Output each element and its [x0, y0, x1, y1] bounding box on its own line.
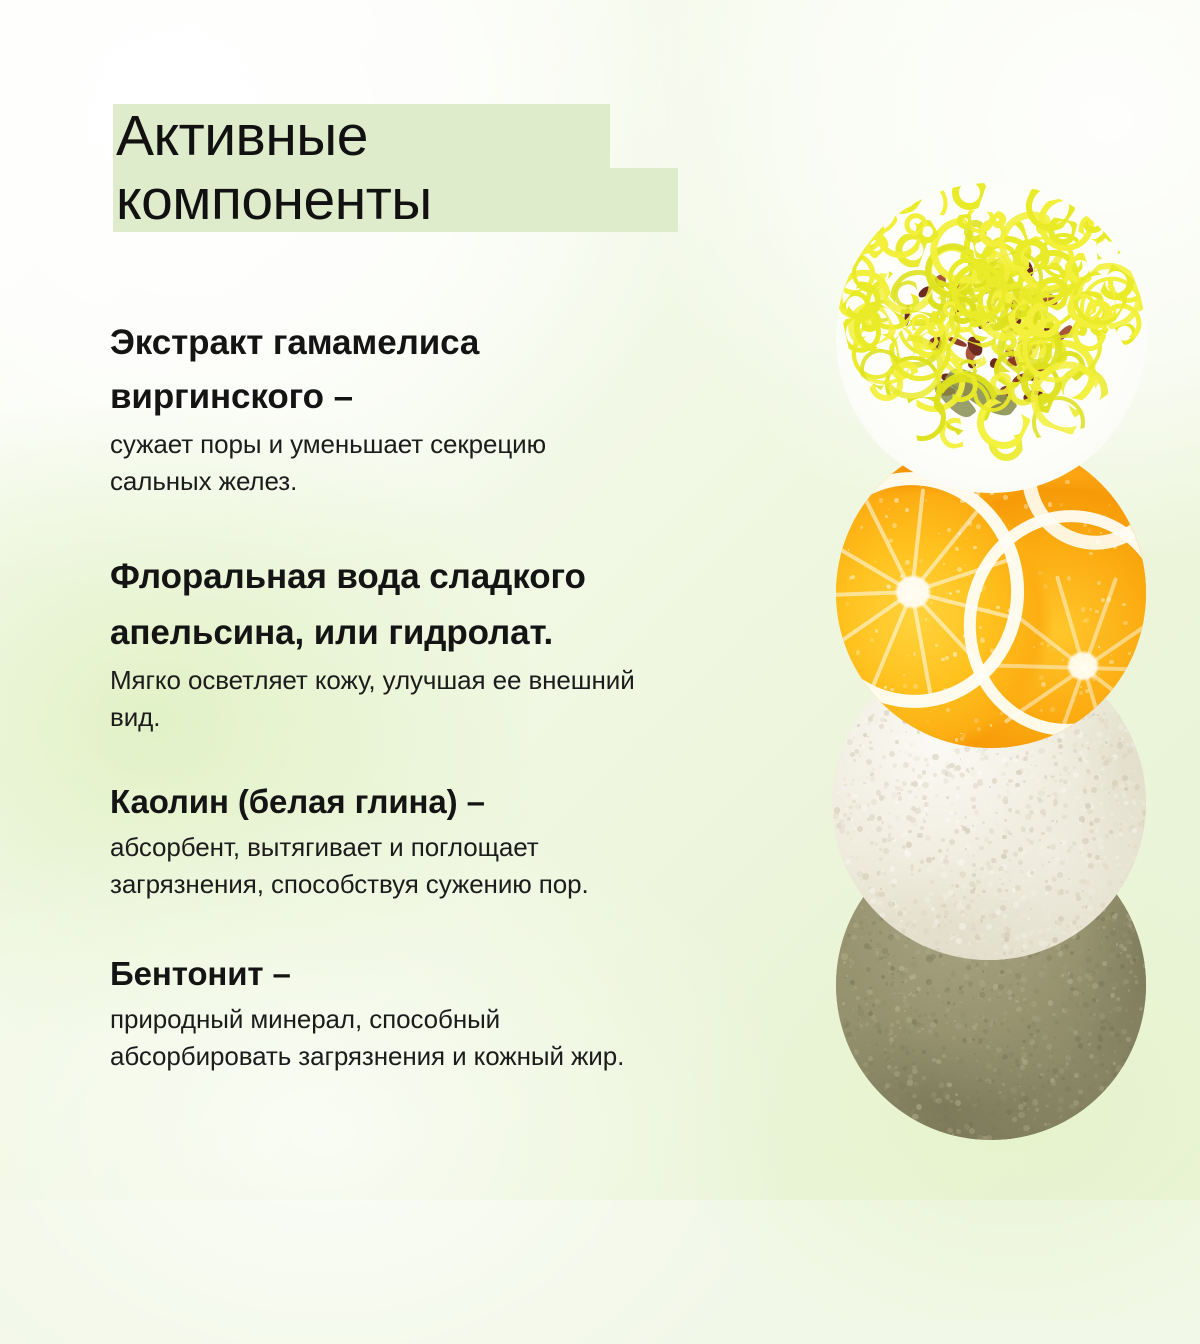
page-title-block: Активные компоненты [113, 104, 713, 232]
ingredient-name-2: Флоральная вода сладкого апельсина, или … [110, 549, 635, 661]
ingredient-desc-line: Мягко осветляет кожу, улучшая ее внешний [110, 662, 635, 699]
ingredient-description-4: природный минерал, способный абсорбирова… [110, 1001, 624, 1075]
ingredient-desc-line: сужает поры и уменьшает секрецию [110, 426, 546, 463]
ingredient-desc-line: абсорбент, вытягивает и поглощает [110, 829, 589, 866]
page-title-line-2: компоненты [116, 168, 713, 232]
ingredient-name-line: виргинского – [110, 370, 546, 424]
ingredient-desc-line: сальных желез. [110, 463, 546, 500]
page-title-line-1: Активные [116, 104, 713, 168]
ingredient-item-3: Каолин (белая глина) – абсорбент, вытяги… [110, 778, 589, 903]
ingredient-description-1: сужает поры и уменьшает секрецию сальных… [110, 426, 546, 500]
ingredient-photo-stack [810, 150, 1200, 1160]
ingredient-name-line: Бентонит – [110, 950, 624, 998]
ingredient-desc-line: вид. [110, 699, 635, 736]
ingredient-item-1: Экстракт гамамелиса виргинского – сужает… [110, 316, 546, 500]
content-column: Активные компоненты Экстракт гамамелиса … [0, 0, 780, 1200]
ingredient-desc-line: абсорбировать загрязнения и кожный жир. [110, 1038, 624, 1075]
ingredient-name-4: Бентонит – [110, 950, 624, 998]
ingredient-name-line: Экстракт гамамелиса [110, 316, 546, 370]
ingredient-description-3: абсорбент, вытягивает и поглощает загряз… [110, 829, 589, 903]
ingredient-name-1: Экстракт гамамелиса виргинского – [110, 316, 546, 424]
ingredient-name-line: Каолин (белая глина) – [110, 778, 589, 826]
ingredient-desc-line: загрязнения, способствуя сужению пор. [110, 866, 589, 903]
witch-hazel-flower-photo [836, 183, 1146, 493]
ingredient-item-2: Флоральная вода сладкого апельсина, или … [110, 549, 635, 736]
ingredient-item-4: Бентонит – природный минерал, способный … [110, 950, 624, 1075]
ingredient-desc-line: природный минерал, способный [110, 1001, 624, 1038]
page-title: Активные компоненты [113, 104, 713, 232]
ingredient-name-3: Каолин (белая глина) – [110, 778, 589, 826]
ingredient-description-2: Мягко осветляет кожу, улучшая ее внешний… [110, 662, 635, 736]
ingredient-name-line: апельсина, или гидролат. [110, 605, 635, 661]
ingredient-name-line: Флоральная вода сладкого [110, 549, 635, 605]
